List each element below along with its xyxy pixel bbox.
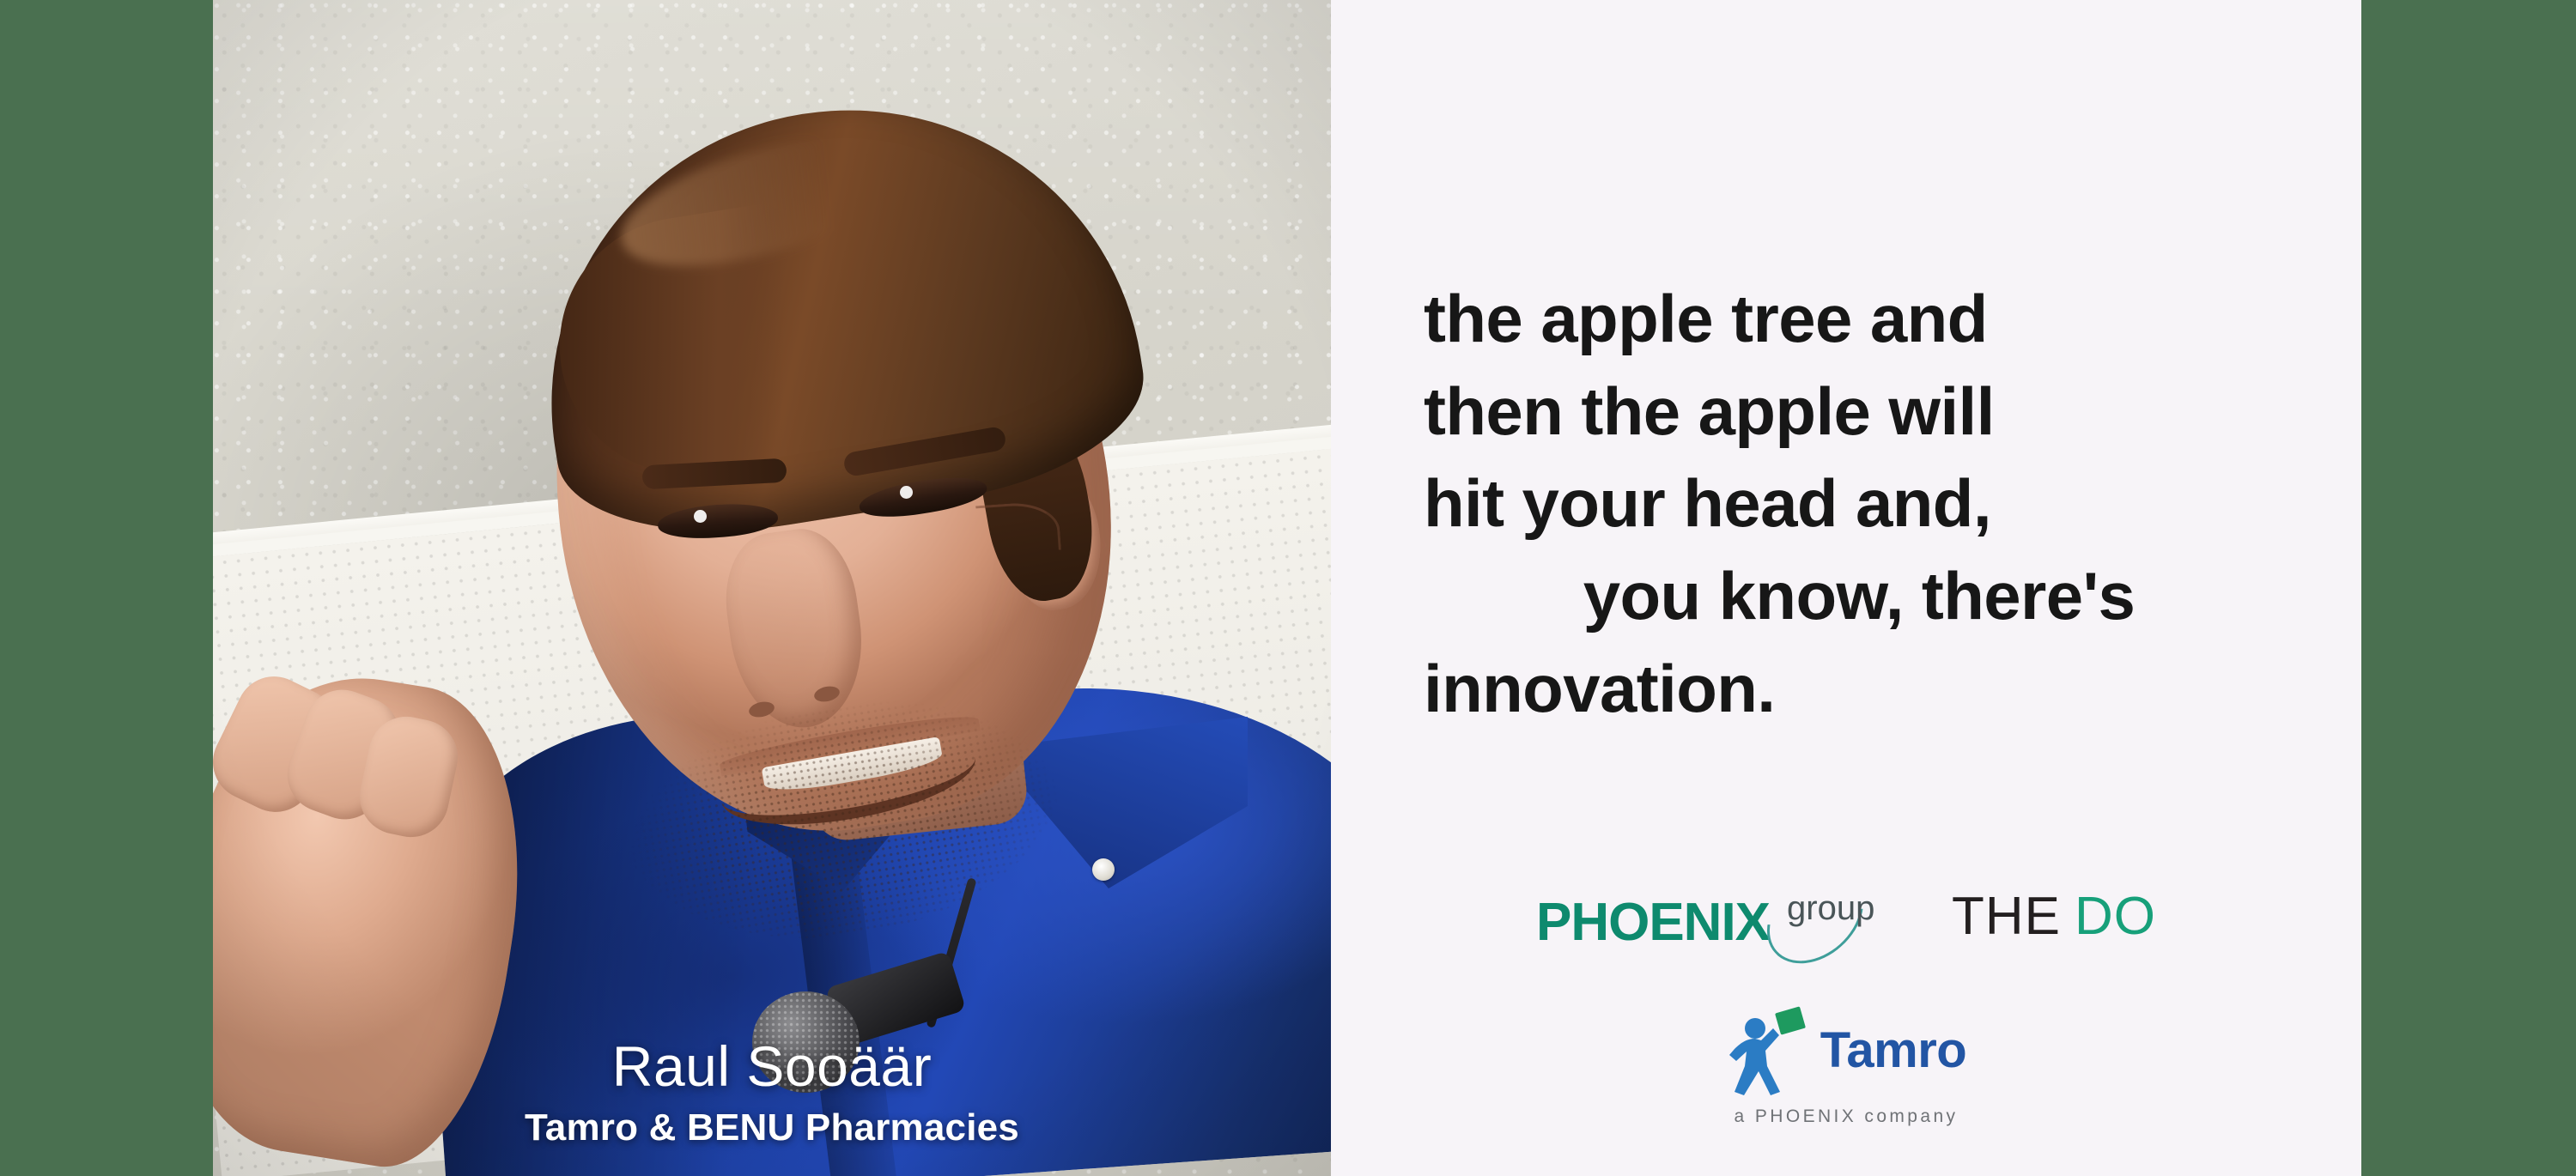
quote-line: innovation. [1424,643,2294,736]
quote-line: then the apple will [1424,366,2294,458]
video-panel[interactable]: Raul Sooäär Tamro & BENU Pharmacies [213,0,1331,1176]
eye-highlight-right [900,486,913,499]
the-do-logo: THE DO [1952,890,2156,943]
logo-row-top: PHOENIX group THE DO [1331,876,2361,958]
quote-line: the apple tree and [1424,273,2294,366]
the-do-the: THE [1952,890,2061,943]
speaker-caption: Raul Sooäär Tamro & BENU Pharmacies [213,1035,1331,1151]
tamro-wordmark: Tamro [1820,1026,1966,1076]
phoenix-group-suffix: group [1787,891,1874,925]
tamro-logo: Tamro [1726,1006,1966,1095]
tamro-logo-block: Tamro a PHOENIX company [1331,1006,2361,1125]
logo-area: PHOENIX group THE DO [1331,876,2361,1125]
shirt-button [1092,858,1115,881]
the-do-do: DO [2075,890,2156,943]
quote-panel: the apple tree and then the apple will h… [1331,0,2361,1176]
tamro-figure-icon [1726,1006,1808,1095]
eye-highlight-left [694,510,707,523]
quote-text: the apple tree and then the apple will h… [1331,273,2361,735]
phoenix-wordmark: PHOENIX [1536,896,1770,949]
content-band: Raul Sooäär Tamro & BENU Pharmacies the … [213,0,2361,1176]
quote-line: you know, there's [1424,550,2294,643]
quote-line: hit your head and, [1424,458,2294,550]
phoenix-group-suffix-wrap: group [1761,876,1890,958]
phoenix-group-logo: PHOENIX group [1536,876,1890,958]
tamro-tagline: a PHOENIX company [1735,1107,1959,1125]
speaker-role: Tamro & BENU Pharmacies [213,1106,1331,1150]
speaker-name: Raul Sooäär [213,1035,1331,1099]
speaker-figure [213,0,1331,1176]
video-quote-slide: Raul Sooäär Tamro & BENU Pharmacies the … [0,0,2576,1176]
